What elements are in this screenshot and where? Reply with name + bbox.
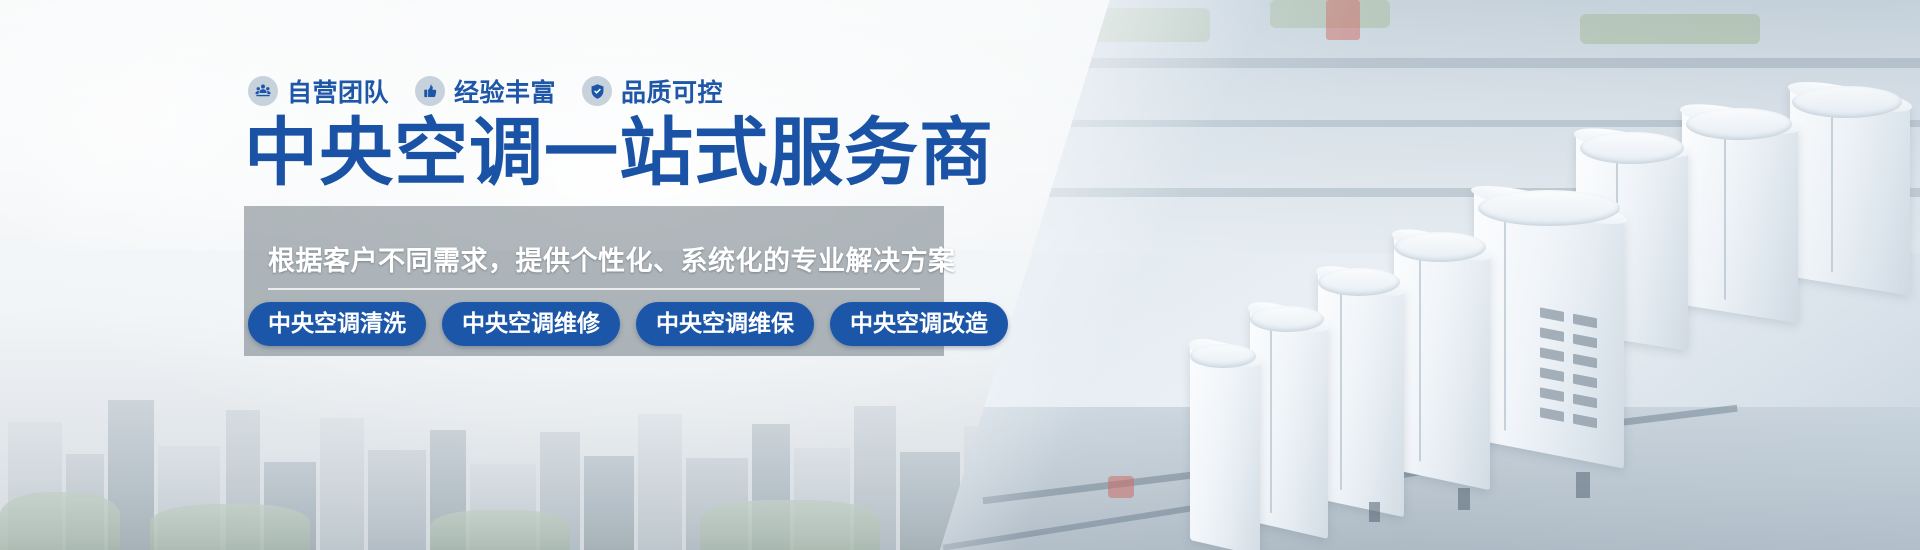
shield-check-icon: [582, 76, 612, 106]
feature-badge-quality-controllable: 品质可控: [582, 73, 723, 109]
banner-content: 自营团队 经验丰富 品质可控: [0, 0, 1000, 550]
service-tag-retrofit[interactable]: 中央空调改造: [830, 302, 1008, 346]
feature-label: 品质可控: [621, 73, 723, 109]
feature-label: 经验丰富: [454, 73, 556, 109]
feature-badge-rich-experience: 经验丰富: [415, 73, 556, 109]
feature-label: 自营团队: [287, 73, 389, 109]
feature-badge-list: 自营团队 经验丰富 品质可控: [248, 73, 723, 109]
service-tag-maintenance[interactable]: 中央空调维保: [636, 302, 814, 346]
rooftop-hvac-chiller-units-photo: [940, 0, 1920, 550]
panel-divider: [268, 288, 920, 290]
service-tag-cleaning[interactable]: 中央空调清洗: [248, 302, 426, 346]
thumbs-up-icon: [415, 76, 445, 106]
service-tag-list: 中央空调清洗 中央空调维修 中央空调维保 中央空调改造: [248, 302, 1008, 346]
service-tag-repair[interactable]: 中央空调维修: [442, 302, 620, 346]
feature-badge-self-operated-team: 自营团队: [248, 73, 389, 109]
hero-banner: 自营团队 经验丰富 品质可控: [0, 0, 1920, 550]
team-icon: [248, 76, 278, 106]
page-title: 中央空调一站式服务商: [244, 116, 994, 190]
subtitle-text: 根据客户不同需求，提供个性化、系统化的专业解决方案: [268, 239, 956, 278]
